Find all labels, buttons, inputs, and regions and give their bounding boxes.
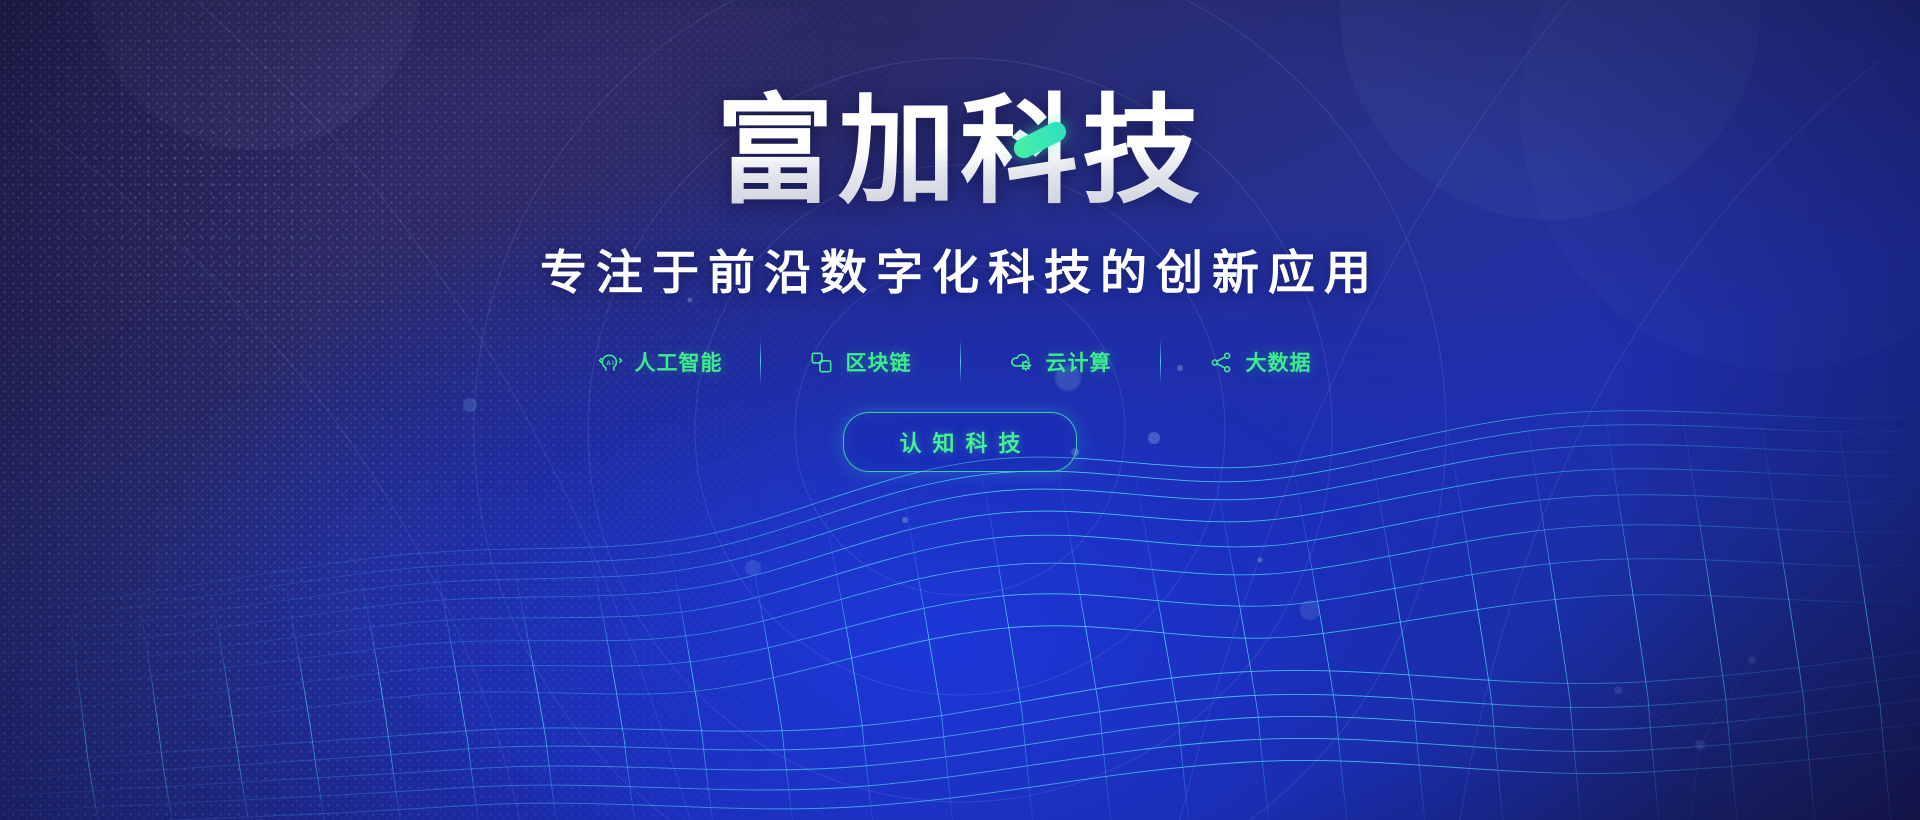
- cloud-gear-icon: [1009, 349, 1035, 375]
- cognitive-tech-button[interactable]: 认知科技: [843, 412, 1076, 472]
- feature-tag-list: AI 人工智能 区块链: [0, 340, 1920, 384]
- svg-text:AI: AI: [606, 359, 615, 366]
- cta-container: 认知科技: [0, 412, 1920, 472]
- feature-tag-cloud[interactable]: 云计算: [961, 347, 1160, 377]
- logo-char-4: 技: [1082, 88, 1204, 215]
- feature-tag-label: 大数据: [1246, 347, 1312, 377]
- feature-tag-ai[interactable]: AI 人工智能: [561, 347, 760, 377]
- company-logo: 富加科技: [0, 88, 1920, 215]
- page-subtitle: 专注于前沿数字化科技的创新应用: [0, 234, 1920, 303]
- feature-tag-label: 区块链: [846, 347, 912, 377]
- logo-char-1: 富: [716, 88, 838, 215]
- logo-char-2: 加: [838, 88, 960, 215]
- share-network-icon: [1209, 349, 1235, 375]
- feature-tag-label: 云计算: [1046, 347, 1112, 377]
- feature-tag-bigdata[interactable]: 大数据: [1161, 347, 1360, 377]
- feature-tag-blockchain[interactable]: 区块链: [761, 347, 960, 377]
- feature-tag-label: 人工智能: [635, 347, 723, 377]
- hero-banner: 富加科技 专注于前沿数字化科技的创新应用 AI 人工智能: [0, 0, 1920, 820]
- ai-head-icon: AI: [598, 349, 624, 375]
- blockchain-blocks-icon: [809, 349, 835, 375]
